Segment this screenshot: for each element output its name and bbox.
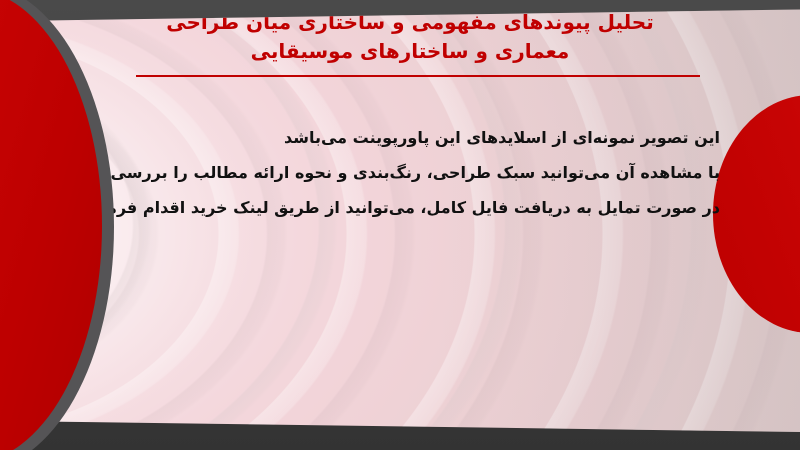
presentation-slide: تحلیل پیوندهای مفهومی و ساختاری میان طرا… — [0, 0, 800, 450]
slide-content-panel: تحلیل پیوندهای مفهومی و ساختاری میان طرا… — [0, 0, 800, 450]
panel-right-gray-wash — [0, 0, 800, 450]
body-line-2: با مشاهده آن می‌توانید سبک طراحی، رنگ‌بن… — [80, 155, 720, 190]
slide-body-text: این تصویر نمونه‌ای از اسلایدهای این پاور… — [80, 120, 720, 225]
body-line-1: این تصویر نمونه‌ای از اسلایدهای این پاور… — [80, 120, 720, 155]
title-line-2: معماری و ساختارهای موسیقایی — [100, 37, 720, 66]
title-underline-rule — [136, 75, 700, 77]
body-line-3: در صورت تمایل به دریافت فایل کامل، می‌تو… — [80, 190, 720, 225]
